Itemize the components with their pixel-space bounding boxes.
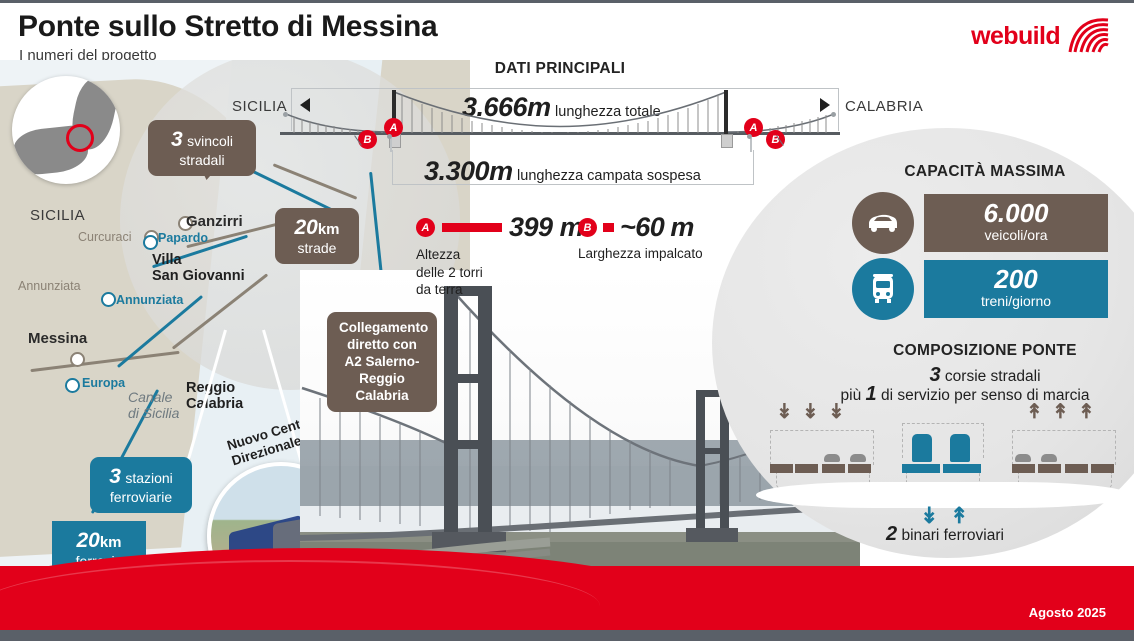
diagram-label-sicilia: SICILIA — [232, 98, 287, 115]
span-leader-left — [390, 138, 392, 152]
composition-rail-num: 2 — [886, 523, 897, 545]
rail-segment — [902, 464, 940, 473]
legend-b-bar — [603, 223, 614, 232]
callout-collegamento-1: Collegamento — [339, 320, 425, 337]
map-label-reggio-calabria: ReggioCalabria — [186, 381, 243, 413]
map-label-papardo: Papardo — [158, 231, 208, 245]
callout-ferrovia-unit: km — [100, 534, 122, 551]
legend-b-badge: B — [578, 218, 597, 237]
arrow-down-icon: ↡ — [802, 402, 819, 422]
callout-collegamento-a2[interactable]: Collegamento diretto con A2 Salerno- Reg… — [327, 312, 437, 412]
capacity-unit-trains: treni/giorno — [981, 292, 1051, 312]
map-node-europa[interactable] — [65, 378, 80, 393]
map-label-annunziata-rail: Annunziata — [116, 293, 183, 307]
bottom-rule — [0, 630, 1134, 641]
callout-strade-text: strade — [287, 240, 347, 256]
composition-title: COMPOSIZIONE PONTE — [840, 342, 1130, 360]
page-title: Ponte sullo Stretto di Messina — [18, 10, 437, 44]
top-rule — [0, 0, 1134, 3]
dimension-tick-right — [831, 112, 836, 117]
legend-a-bar — [442, 223, 502, 232]
span-leader-right — [750, 138, 752, 152]
span-value: 3.300 — [424, 156, 489, 186]
map-label-canale-di-sicilia: Canale di Sicilia — [128, 389, 179, 421]
legend-a-caption-1: Altezza — [416, 247, 460, 262]
span-tick-left — [387, 134, 392, 139]
lane-segment — [848, 464, 871, 473]
callout-strade-num: 20 — [294, 216, 317, 239]
callout-stazioni-num: 3 — [109, 465, 121, 488]
map-node-annunziata-road[interactable] — [70, 352, 85, 367]
legend-b-unit: m — [670, 212, 694, 243]
capacity-title: CAPACITÀ MASSIMA — [840, 163, 1130, 181]
lane-segment — [822, 464, 845, 473]
map-node-annunziata-rail[interactable] — [101, 292, 116, 307]
capacity-row-trains: 200 treni/giorno — [852, 258, 1108, 320]
map-label-europa: Europa — [82, 376, 125, 390]
capacity-row-vehicles: 6.000 veicoli/ora — [852, 192, 1108, 254]
arrow-down-icon: ↡ — [776, 402, 793, 422]
arrow-down-icon: ↡ — [828, 402, 845, 422]
capacity-value-vehicles: 6.000 — [983, 200, 1048, 226]
callout-collegamento-4: Reggio Calabria — [339, 371, 425, 405]
dimension-tick-left — [283, 112, 288, 117]
legend-b: B ~60m Larghezza impalcato — [578, 212, 703, 261]
bridge-cross-section: ↡ ↡ ↡ ↟ ↟ ↟ — [762, 400, 1122, 500]
legend-a-value: 399 — [509, 212, 553, 243]
composition-rail-line: 2 binari ferroviari — [820, 523, 1070, 546]
locator-inset-map — [12, 76, 120, 184]
webuild-swirl-icon — [1066, 16, 1112, 56]
legend-b-caption: Larghezza impalcato — [578, 246, 703, 261]
legend-a-caption-3: da terra — [416, 282, 463, 297]
callout-svincoli-num: 3 — [171, 128, 183, 151]
capacity-bar-vehicles: 6.000 veicoli/ora — [924, 194, 1108, 252]
map-label-sicilia: SICILIA — [30, 207, 85, 224]
car-mini-icon — [1041, 454, 1057, 462]
arrow-up-icon: ↟ — [1052, 402, 1069, 422]
span-unit: m — [489, 156, 513, 186]
callout-stazioni-text-1: stazioni — [125, 470, 172, 486]
bridge-tower-base-right — [721, 134, 733, 148]
map-label-messina: Messina — [28, 330, 87, 347]
callout-collegamento-2: diretto con — [339, 337, 425, 354]
train-icon — [852, 258, 914, 320]
train-mini-icon — [950, 434, 970, 462]
badge-b-left: B — [358, 130, 377, 149]
car-icon — [852, 192, 914, 254]
capacity-unit-vehicles: veicoli/ora — [984, 226, 1047, 246]
capacity-bar-trains: 200 treni/giorno — [924, 260, 1108, 318]
inset-location-marker — [66, 124, 94, 152]
lane-segment — [1012, 464, 1035, 473]
diagram-label-calabria: CALABRIA — [845, 98, 923, 115]
callout-stazioni-ferroviarie[interactable]: 3 stazioni ferroviarie — [90, 457, 192, 513]
callout-svincoli-stradali[interactable]: 3 svincoli stradali — [148, 120, 256, 176]
cross-section-base — [756, 482, 1130, 508]
logo-wordmark: webuild — [971, 22, 1060, 51]
capacity-value-trains: 200 — [994, 266, 1037, 292]
car-mini-icon — [1015, 454, 1031, 462]
suspended-span-readout: 3.300m lunghezza campata sospesa — [424, 156, 701, 187]
map-node-papardo[interactable] — [143, 235, 158, 250]
lane-segment — [770, 464, 793, 473]
lane-segment — [795, 464, 818, 473]
bridge-tower-right — [724, 90, 728, 134]
legend-b-value: ~60 — [620, 212, 664, 243]
footer-date: Agosto 2025 — [1029, 605, 1106, 620]
callout-svincoli-text-1: svincoli — [187, 133, 233, 149]
map-label-ganzirri: Ganzirri — [186, 213, 243, 230]
badge-b-right: B — [766, 130, 785, 149]
map-label-annunziata-road: Annunziata — [18, 279, 81, 293]
span-caption: lunghezza campata sospesa — [517, 168, 701, 184]
callout-20km-strade[interactable]: 20km strade — [275, 208, 359, 264]
webuild-logo: webuild — [971, 16, 1112, 56]
legend-a-badge: A — [416, 218, 435, 237]
lane-segment — [1091, 464, 1114, 473]
arrow-up-icon: ↟ — [1026, 402, 1043, 422]
callout-svincoli-text-2: stradali — [160, 152, 244, 168]
lane-segment — [1038, 464, 1061, 473]
composition-rail-text: binari ferroviari — [901, 527, 1004, 544]
car-mini-icon — [824, 454, 840, 462]
callout-stazioni-text-2: ferroviarie — [102, 489, 180, 505]
map-label-villa-san-giovanni: VillaSan Giovanni — [152, 253, 245, 285]
callout-strade-unit: km — [318, 221, 340, 238]
train-glyph — [870, 273, 896, 305]
rail-segment — [943, 464, 981, 473]
car-mini-icon — [850, 454, 866, 462]
callout-ferrovia-num: 20 — [76, 529, 99, 552]
callout-collegamento-3: A2 Salerno- — [339, 354, 425, 371]
car-glyph — [866, 212, 900, 234]
arrow-up-icon: ↟ — [1078, 402, 1095, 422]
legend-a: A 399m Altezza delle 2 torri da terra — [416, 212, 583, 299]
lane-segment — [1065, 464, 1088, 473]
train-mini-icon — [912, 434, 932, 462]
infographic-root: Ponte sullo Stretto di Messina I numeri … — [0, 0, 1134, 641]
diagram-section-title: DATI PRINCIPALI — [420, 60, 700, 78]
legend-a-caption-2: delle 2 torri — [416, 265, 483, 280]
span-tick-right — [747, 134, 752, 139]
map-label-curcuraci: Curcuraci — [78, 230, 132, 244]
